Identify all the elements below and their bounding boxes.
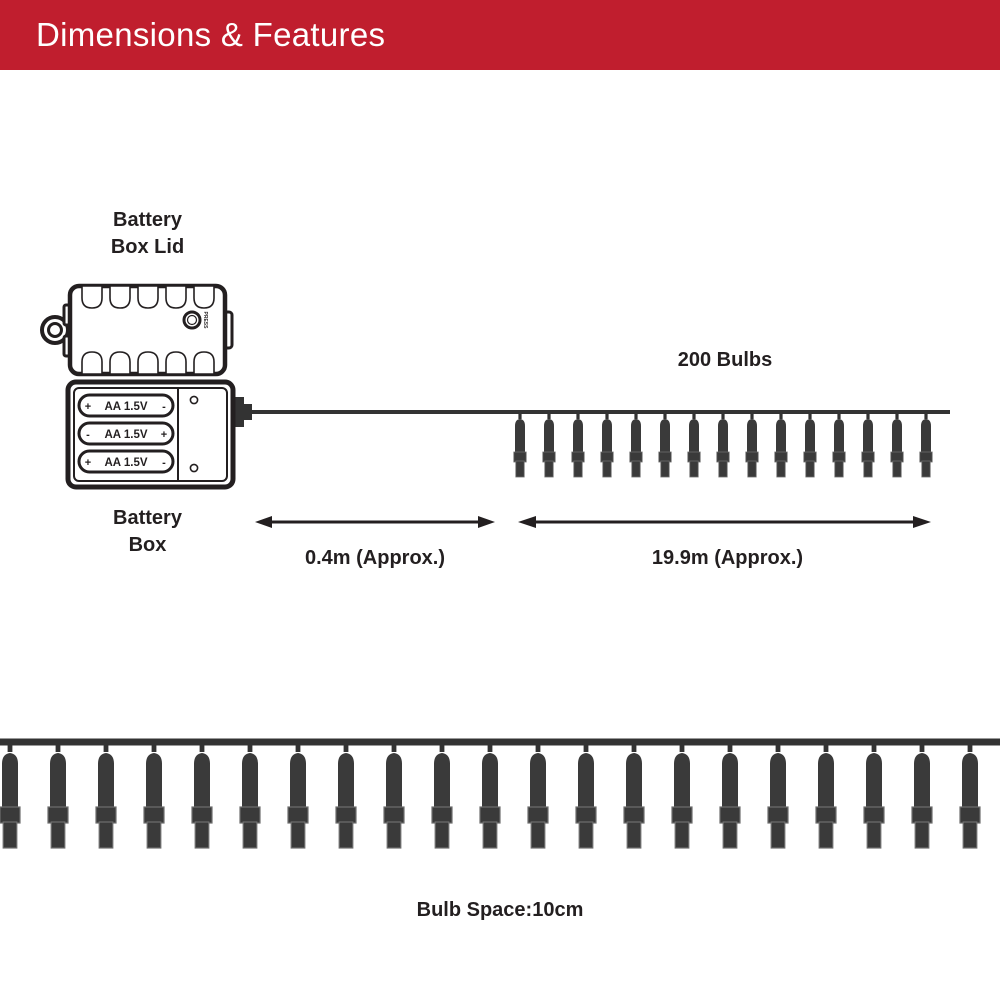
cell-terminal-left: - — [86, 429, 90, 441]
dimension-arrows — [255, 516, 931, 528]
product-diagram-page: Dimensions & Features Battery Box Lid Ba… — [0, 0, 1000, 1000]
diagram-artwork: PRESS + AA 1.5V - — [0, 0, 1000, 1000]
cell-voltage-text: AA 1.5V — [104, 429, 147, 441]
battery-box-illustration: + AA 1.5V - - AA 1.5V + + AA 1.5V - — [68, 382, 252, 487]
top-light-string — [250, 412, 950, 477]
string-length-arrow — [518, 516, 931, 528]
lead-length-arrow — [255, 516, 495, 528]
cell-terminal-right: + — [161, 429, 167, 441]
battery-cell-slot: + AA 1.5V - — [79, 395, 173, 416]
cell-terminal-left: + — [85, 401, 91, 413]
press-button-label: PRESS — [202, 312, 208, 330]
press-button[interactable]: PRESS — [184, 312, 208, 330]
bottom-string-bulbs — [0, 742, 980, 848]
cell-voltage-text: AA 1.5V — [104, 457, 147, 469]
cell-voltage-text: AA 1.5V — [104, 401, 147, 413]
battery-box-lid-illustration: PRESS — [42, 286, 232, 374]
top-string-bulbs — [514, 412, 932, 477]
screw-hole-bottom — [190, 464, 197, 471]
cell-terminal-right: - — [162, 457, 166, 469]
cell-terminal-right: - — [162, 401, 166, 413]
battery-cell-slot: - AA 1.5V + — [79, 423, 173, 444]
screw-hole-top — [190, 396, 197, 403]
battery-cell-slot: + AA 1.5V - — [79, 451, 173, 472]
bottom-light-string — [0, 742, 1000, 848]
cell-terminal-left: + — [85, 457, 91, 469]
